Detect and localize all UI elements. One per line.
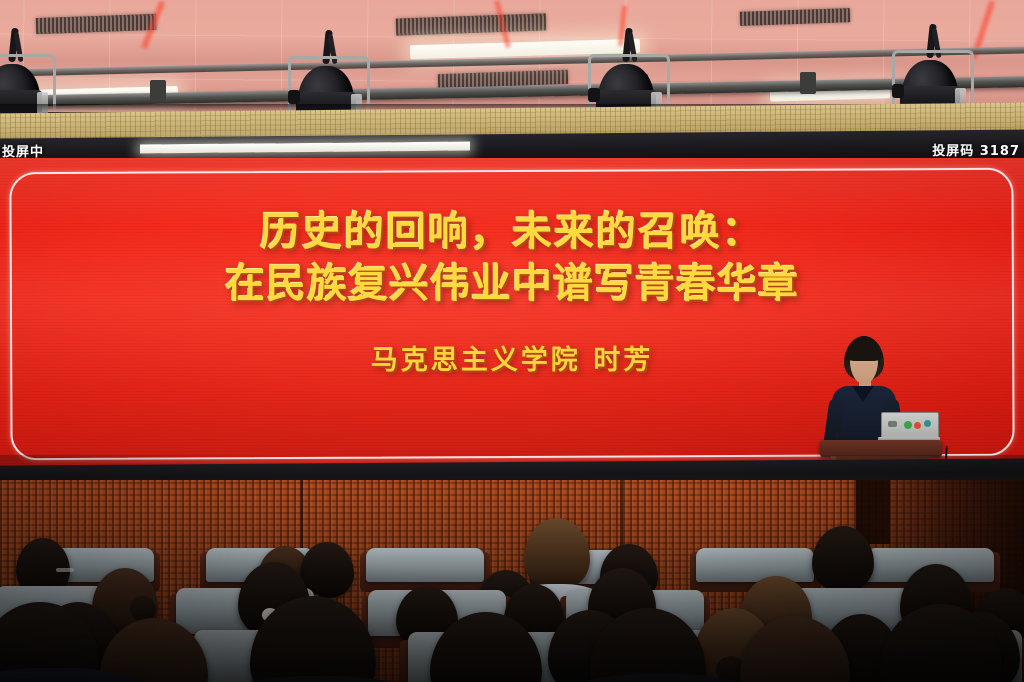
ceiling: [0, 0, 1024, 112]
truss-clamp-3: [800, 72, 816, 94]
audience-shoulders: [220, 676, 420, 682]
podium-top: [820, 440, 942, 457]
slide-title-line-2: 在民族复兴伟业中谱写青春华章: [225, 258, 799, 310]
seat: [696, 548, 814, 582]
audience-area: [0, 500, 1024, 682]
laptop-sticker-red: [914, 422, 921, 429]
slide-title-line-1: 历史的回响，未来的召唤：: [225, 206, 799, 258]
slide-subtitle: 马克思主义学院 时芳: [371, 338, 653, 377]
seat: [366, 548, 484, 582]
seat-row-near: [0, 660, 1024, 682]
lecture-hall-scene: 投屏中 投屏码 3187 历史的回响，未来的召唤： 在民族复兴伟业中谱写青春华章…: [0, 0, 1024, 682]
casting-code-right: 投屏码 3187: [932, 140, 1020, 159]
slide-title: 历史的回响，未来的召唤： 在民族复兴伟业中谱写青春华章: [225, 206, 799, 310]
laptop-sticker-teal: [924, 420, 931, 427]
truss-clamp-1: [150, 80, 166, 102]
laptop-sticker-grey: [888, 421, 897, 427]
audience-glasses: [56, 568, 74, 572]
laptop-sticker-green: [904, 421, 912, 429]
